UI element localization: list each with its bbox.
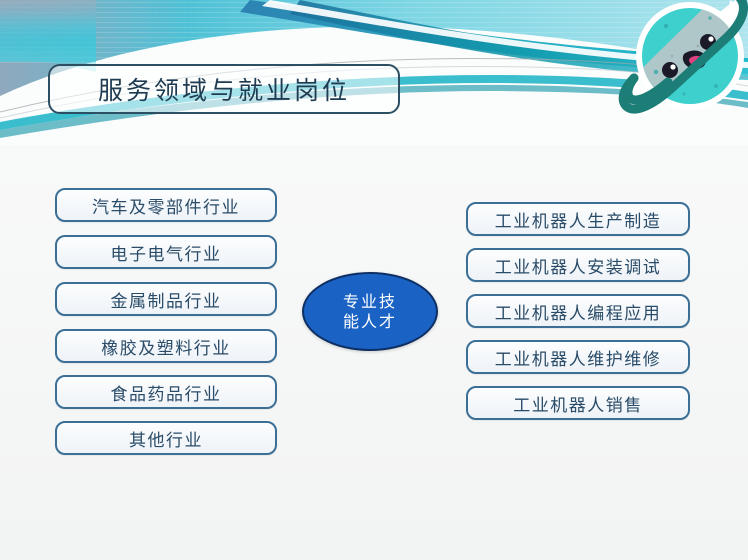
service-domain-label: 食品药品行业	[111, 380, 222, 405]
job-position-item[interactable]: 工业机器人销售	[466, 386, 690, 420]
job-position-item[interactable]: 工业机器人维护维修	[466, 340, 690, 374]
service-domain-item[interactable]: 汽车及零部件行业	[55, 188, 277, 222]
talent-hub-ellipse[interactable]: 专业技 能人才	[302, 272, 438, 351]
service-domain-label: 汽车及零部件行业	[92, 193, 240, 218]
job-position-label: 工业机器人编程应用	[495, 299, 662, 324]
page-title: 服务领域与就业岗位	[98, 71, 350, 107]
service-domain-label: 其他行业	[129, 426, 203, 451]
talent-hub-label-line1: 专业技	[343, 292, 397, 312]
service-domain-item[interactable]: 金属制品行业	[55, 282, 277, 316]
service-domain-label: 电子电气行业	[111, 240, 222, 265]
job-position-item[interactable]: 工业机器人生产制造	[466, 202, 690, 236]
job-position-label: 工业机器人安装调试	[495, 253, 662, 278]
talent-hub-label-line2: 能人才	[343, 312, 397, 332]
service-domain-item[interactable]: 食品药品行业	[55, 375, 277, 409]
service-domain-label: 橡胶及塑料行业	[101, 334, 231, 359]
service-domain-item[interactable]: 橡胶及塑料行业	[55, 329, 277, 363]
slide-title-box: 服务领域与就业岗位	[48, 64, 400, 114]
planet-mascot	[612, 0, 748, 140]
job-position-item[interactable]: 工业机器人编程应用	[466, 294, 690, 328]
service-domain-label: 金属制品行业	[111, 287, 222, 312]
service-domain-item[interactable]: 其他行业	[55, 421, 277, 455]
job-position-label: 工业机器人维护维修	[495, 345, 662, 370]
job-position-label: 工业机器人生产制造	[495, 207, 662, 232]
job-position-label: 工业机器人销售	[513, 391, 643, 416]
service-domain-item[interactable]: 电子电气行业	[55, 235, 277, 269]
slide-canvas: 服务领域与就业岗位 汽车及零部件行业 电子电气行业 金属制品行业 橡胶及塑料行业…	[0, 0, 748, 560]
job-position-item[interactable]: 工业机器人安装调试	[466, 248, 690, 282]
